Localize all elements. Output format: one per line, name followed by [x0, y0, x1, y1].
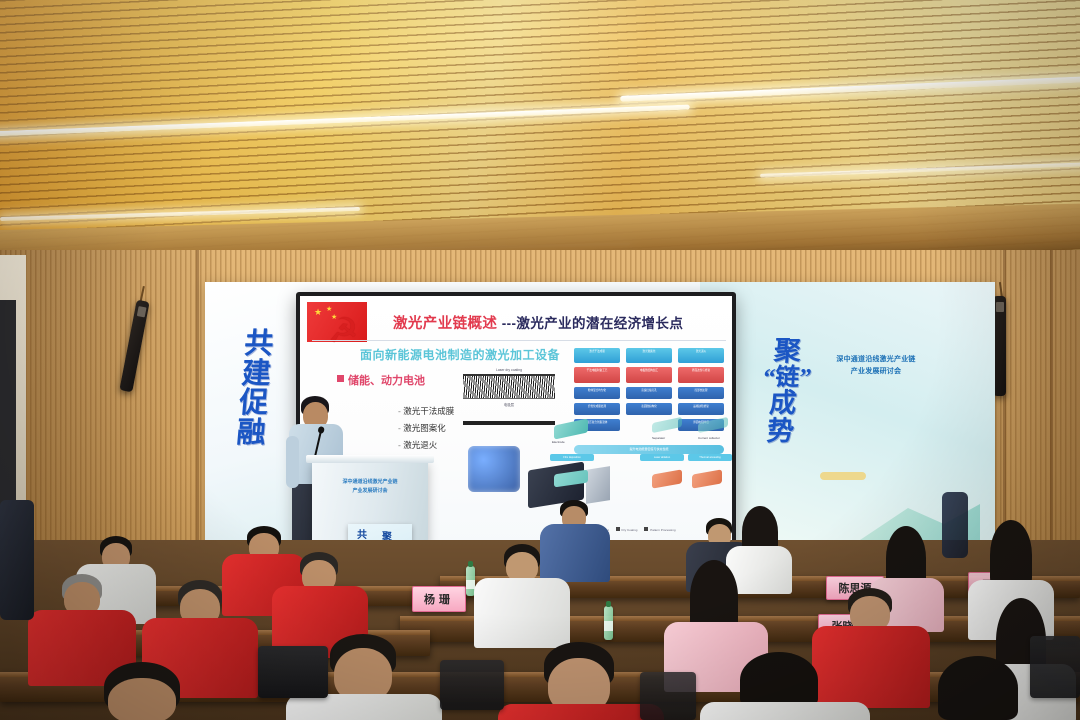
backdrop-title-line: 产业发展研讨会: [826, 366, 926, 378]
audience-torso: [700, 702, 870, 720]
calligraphy-char: 势: [757, 418, 803, 446]
flow-box-mid: 干法电极制备工艺: [574, 367, 620, 383]
lectern-top: [306, 455, 434, 463]
material-layer-graphic: [652, 469, 682, 488]
audience-torso: [540, 524, 610, 582]
audience-chair: [1030, 636, 1080, 698]
flow-box-mid: 电极微结构加工: [626, 367, 672, 383]
slide-title-main: 激光产业链概述: [393, 316, 497, 332]
audience-hair: [740, 652, 818, 708]
audience-torso: [474, 578, 570, 648]
calligraphy-char: 融: [227, 419, 276, 449]
calligraphy-char: 促: [229, 389, 278, 419]
backdrop-accent-decoration: [820, 472, 866, 480]
legend-label: Pattern Processing: [650, 528, 675, 532]
flow-box-item: 粉体混合均匀化: [574, 387, 620, 399]
hammer-sickle-emblem: ☭: [328, 314, 374, 350]
slide-title: 激光产业链概述 ---激光产业的潜在经济增长点: [393, 312, 683, 333]
calligraphy-char: “链”: [762, 366, 808, 390]
material-label: Electrode: [552, 440, 565, 444]
slide-flowchart: 激光干法成膜 干法电极制备工艺 粉体混合均匀化 纤维化成膜处理 辊压复合到集流体…: [574, 348, 726, 458]
material-label: Current collector: [698, 436, 720, 440]
legend-label: Dry Coating: [622, 528, 638, 532]
calligraphy-char: 共: [235, 330, 284, 360]
bottle-label: [604, 621, 613, 631]
speaker-led: [996, 302, 1004, 312]
audience-chair: [640, 672, 696, 720]
battery-cell-graphic: [586, 466, 610, 504]
presenter-arm: [286, 436, 299, 488]
lectern-sign: 深中通道沿线激光产业链 产业发展研讨会: [322, 478, 418, 497]
calligraphy-right: 聚 “链” 成 势: [757, 338, 810, 445]
process-bar: Laser ablation: [640, 454, 684, 461]
flow-footer-bar: 提升电池能量密度与快充性能: [574, 445, 724, 454]
conference-room-photo: 共 建 促 融 聚 “链” 成 势 深中通道沿线激光产业链 产业发展研讨会 ★ …: [0, 0, 1080, 720]
slide-subtitle: 面向新能源电池制造的激光加工设备: [360, 346, 560, 363]
placard-yangshan: 杨珊: [412, 586, 466, 612]
flag-star: ★: [314, 308, 322, 317]
flow-box-item: 晶格缺陷修复: [678, 403, 724, 415]
audience-head: [108, 678, 176, 720]
material-label: Separator: [652, 436, 665, 440]
legend-swatch: [616, 527, 620, 531]
slide-title-rule: [312, 340, 726, 341]
lectern-sign-line: 深中通道沿线激光产业链: [322, 478, 418, 487]
slide-bullet-item: 激光退火: [398, 437, 454, 454]
audience-hair: [938, 656, 1018, 720]
diagram-substrate-bar: [463, 421, 555, 425]
slide-bullet-item: 激光图案化: [398, 420, 454, 437]
diagram-caption: 电极层: [460, 402, 558, 407]
flow-column: 激光图案化 电极微结构加工 高速扫描打孔 表面微织构化: [626, 348, 672, 419]
speaker-led: [137, 306, 147, 317]
slide-bullet-list: 激光干法成膜 激光图案化 激光退火: [358, 403, 454, 455]
audience-chair: [440, 660, 504, 710]
standing-attendee-torso: [0, 500, 34, 620]
flow-box-item: 纤维化成膜处理: [574, 403, 620, 415]
flow-box-mid: 界面改性与修复: [678, 367, 724, 383]
flow-box-item: 表面微织构化: [626, 403, 672, 415]
slide-bullet-heading: 储能、动力电池: [348, 372, 425, 388]
backdrop-event-title: 深中通道沿线激光产业链 产业发展研讨会: [826, 354, 926, 378]
slide-title-sub: ---激光产业的潜在经济增长点: [502, 316, 684, 331]
backdrop-title-line: 深中通道沿线激光产业链: [826, 354, 926, 366]
process-bar: Film deposition: [550, 454, 594, 461]
audience-chair: [258, 646, 328, 698]
flow-box-top: 激光干法成膜: [574, 348, 620, 363]
process-bar: Thermal annealing: [688, 454, 732, 461]
molecule-cluster-graphic: [468, 446, 520, 492]
diagram-hatch-layer: [463, 374, 555, 399]
calligraphy-char: 聚: [764, 338, 810, 366]
slide-microstructure-diagram: Laser dry coating 电极层: [460, 368, 558, 430]
flow-box-item: 高速扫描打孔: [626, 387, 672, 399]
calligraphy-char: 建: [232, 360, 281, 390]
water-bottle: [604, 606, 613, 640]
legend-swatch: [644, 527, 648, 531]
calligraphy-char: 成: [760, 390, 806, 418]
flow-box-item: 局部热处理: [678, 387, 724, 399]
audience-torso: [812, 626, 930, 708]
flow-box-top: 激光退火: [678, 348, 724, 363]
slide-bullet-item: 激光干法成膜: [398, 403, 454, 420]
standing-attendee-torso: [942, 492, 968, 558]
lectern-sign-line: 产业发展研讨会: [322, 487, 418, 496]
diagram-caption: Laser dry coating: [460, 368, 558, 372]
material-layer-graphic: [692, 469, 722, 488]
flow-box-top: 激光图案化: [626, 348, 672, 363]
